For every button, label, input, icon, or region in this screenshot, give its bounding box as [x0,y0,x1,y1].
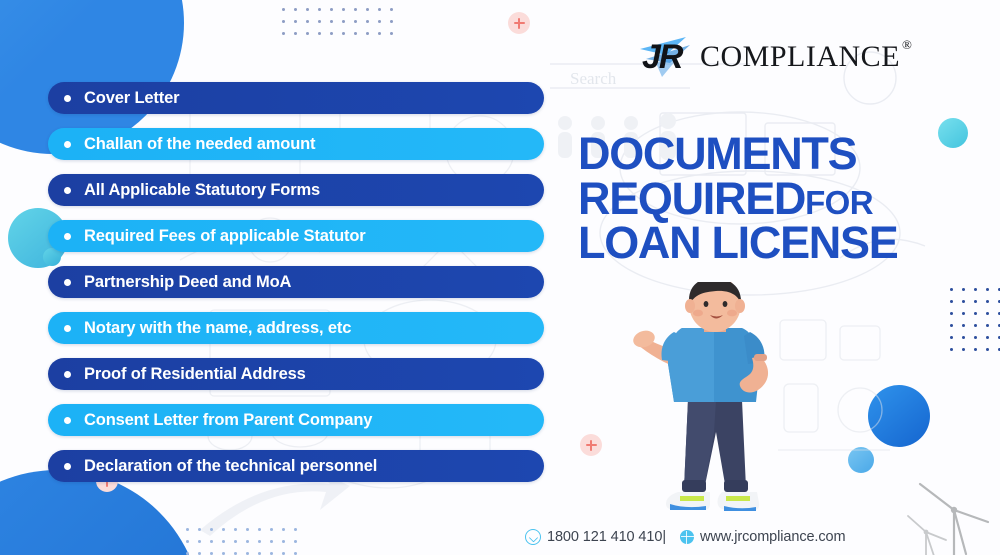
contact-website[interactable]: www.jrcompliance.com [700,529,845,545]
bullet-icon [64,463,71,470]
list-item[interactable]: Challan of the needed amount [48,128,544,160]
list-item[interactable]: Required Fees of applicable Statutor [48,220,544,252]
bullet-icon [64,141,71,148]
bullet-icon [64,371,71,378]
title-line-2-main: REQUIRED [578,173,805,224]
plus-badge-icon [580,434,602,456]
contact-footer: 1800 121 410 410| www.jrcompliance.com [525,526,845,548]
list-item-label: Proof of Residential Address [84,365,306,384]
registered-trademark-icon: ® [902,37,912,53]
phone-icon [525,529,541,545]
list-item[interactable]: All Applicable Statutory Forms [48,174,544,206]
list-item[interactable]: Declaration of the technical personnel [48,450,544,482]
logo-mark-icon: JR [636,33,698,81]
wind-turbine-icon [892,468,1000,555]
decorative-circle-right-small [848,447,874,473]
list-item-label: Notary with the name, address, etc [84,319,351,338]
globe-icon [680,530,694,544]
bullet-icon [64,417,71,424]
list-item[interactable]: Notary with the name, address, etc [48,312,544,344]
list-item[interactable]: Consent Letter from Parent Company [48,404,544,436]
bullet-icon [64,95,71,102]
list-item-label: Consent Letter from Parent Company [84,411,372,430]
list-item-label: Challan of the needed amount [84,135,315,154]
infographic-poster: Search [0,0,1000,555]
brand-logo: JR COMPLIANCE ® [636,33,912,81]
logo-initials: JR [642,38,681,77]
bullet-icon [64,279,71,286]
page-title: DOCUMENTS REQUIREDFOR LOAN LICENSE [578,132,978,266]
list-item-label: All Applicable Statutory Forms [84,181,320,200]
title-line-2: REQUIREDFOR [578,177,978,222]
list-item-label: Cover Letter [84,89,179,108]
list-item[interactable]: Cover Letter [48,82,544,114]
documents-list: Cover Letter Challan of the needed amoun… [48,82,548,496]
contact-phone[interactable]: 1800 121 410 410| [547,529,666,545]
list-item-label: Partnership Deed and MoA [84,273,291,292]
decorative-circle-right-large [868,385,930,447]
title-line-1: DOCUMENTS [578,132,978,177]
list-item-label: Required Fees of applicable Statutor [84,227,366,246]
list-item[interactable]: Proof of Residential Address [48,358,544,390]
bullet-icon [64,325,71,332]
title-line-3: LOAN LICENSE [578,221,978,266]
list-item[interactable]: Partnership Deed and MoA [48,266,544,298]
character-illustration [630,282,800,520]
logo-wordmark: COMPLIANCE [700,40,900,74]
plus-badge-icon [508,12,530,34]
list-item-label: Declaration of the technical personnel [84,457,377,476]
bullet-icon [64,187,71,194]
title-line-2-small: FOR [805,184,873,221]
bullet-icon [64,233,71,240]
svg-text:Search: Search [570,69,617,88]
